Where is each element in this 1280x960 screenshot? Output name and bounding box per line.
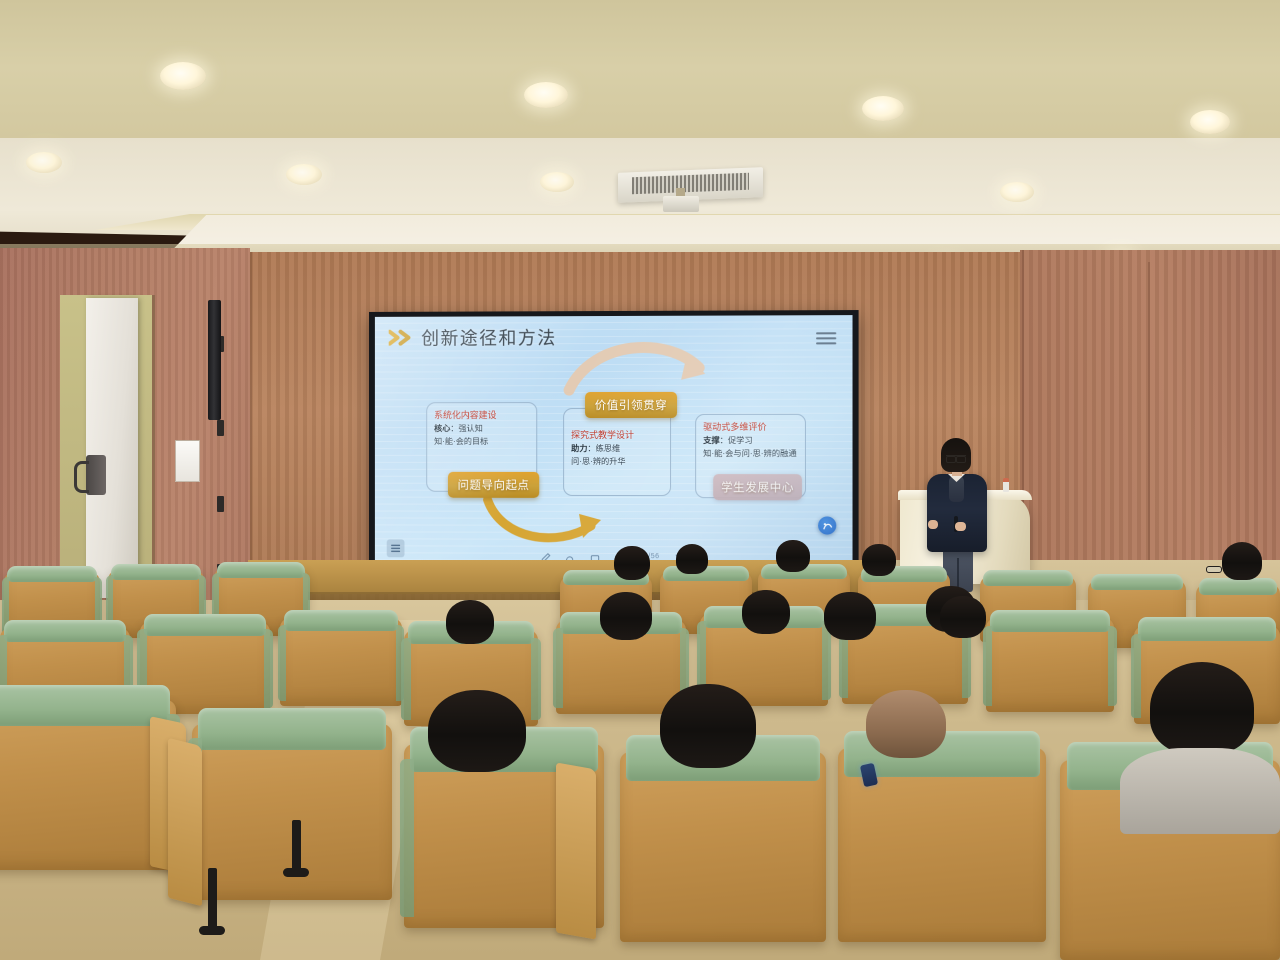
recessed-downlight <box>1000 182 1034 202</box>
seat-side <box>531 638 540 721</box>
recessed-downlight <box>540 172 574 192</box>
recessed-downlight <box>160 62 206 90</box>
seat-headrest <box>4 620 126 642</box>
audience-member <box>1222 542 1262 580</box>
badge-student-development: 学生发展中心 <box>713 474 802 500</box>
card-bullet-sep: ： <box>450 424 458 433</box>
seat-headrest <box>990 610 1110 633</box>
water-bottle <box>1003 478 1009 492</box>
slide-options-icon[interactable] <box>387 539 405 557</box>
wall-control-panel[interactable] <box>175 440 200 482</box>
door-hinge-icon <box>217 496 224 512</box>
glasses-icon <box>946 455 966 461</box>
person-head <box>866 690 946 758</box>
recessed-downlight <box>862 96 904 121</box>
seat-headrest <box>198 708 386 750</box>
glasses-icon <box>1206 566 1222 573</box>
seat-headrest <box>7 566 97 582</box>
door-hinge-icon <box>217 420 224 436</box>
seat-side <box>278 625 287 701</box>
seat-armrest <box>556 762 596 939</box>
card-bullet-sep: ： <box>587 444 595 453</box>
card-bullet: 问·思·辨的升华 <box>571 456 663 469</box>
door-handle[interactable] <box>86 455 106 495</box>
person-head <box>1150 662 1254 754</box>
badge-problem-oriented: 问题导向起点 <box>448 472 539 498</box>
slide-canvas: 创新途径和方法 系统化内容建设 核心：强认知 知·能· <box>375 315 853 569</box>
person-head <box>776 540 810 572</box>
card-bullet-key: 核心 <box>434 424 450 433</box>
wall-seam <box>250 252 252 600</box>
seat-headrest <box>1199 578 1278 595</box>
seat-headrest <box>111 564 201 580</box>
presentation-app-logo-icon <box>818 516 836 534</box>
card-bullet-value: 促学习 <box>728 436 753 445</box>
card-bullet: 知·能·会与问·思·辨的融通 <box>703 448 798 461</box>
card-bullet: 知·能·会的目标 <box>434 436 529 449</box>
audience-member <box>940 596 986 638</box>
seat[interactable] <box>620 752 826 942</box>
double-chevron-icon <box>389 330 415 346</box>
card-inquiry-teaching: 探究式教学设计 助力：练思维 问·思·辨的升华 <box>563 408 671 496</box>
air-conditioner-grille <box>632 173 749 194</box>
audience-member <box>600 592 652 640</box>
wall-seam <box>1148 262 1150 592</box>
person-head <box>446 600 494 644</box>
audience-member <box>742 590 790 634</box>
seat-headrest <box>144 614 266 636</box>
seat-headrest <box>284 610 399 631</box>
person-head <box>742 590 790 634</box>
seat-side <box>264 629 273 708</box>
seat-headrest <box>217 562 305 578</box>
card-bullet-key: 支撑 <box>703 436 719 445</box>
card-bullet-key: 助力 <box>571 444 587 453</box>
recessed-downlight <box>26 152 62 173</box>
presenter-hand <box>928 520 938 529</box>
card-bullet-sep: ： <box>720 436 728 445</box>
hamburger-menu-icon[interactable] <box>816 332 836 344</box>
seat-side <box>401 638 410 721</box>
slide-title: 创新途径和方法 <box>421 324 556 350</box>
person-head <box>824 592 876 640</box>
seat[interactable] <box>280 618 402 706</box>
seat-leg <box>208 868 217 930</box>
badge-value-guidance: 价值引领贯穿 <box>585 392 677 418</box>
card-bullet-value: 强认知 <box>458 424 482 433</box>
arrow-bottom-curve-icon <box>480 492 619 554</box>
seat-side <box>400 759 414 917</box>
audience-member <box>776 540 810 572</box>
seat-headrest <box>1091 574 1183 590</box>
ceiling-projector <box>663 196 699 212</box>
person-head <box>614 546 650 580</box>
seat-leg <box>292 820 301 872</box>
card-bullet-value: 问·思·辨的升华 <box>571 457 626 466</box>
seat-headrest <box>1138 617 1275 641</box>
card-bullet: 支撑：促学习 <box>703 435 798 448</box>
seat-foot <box>283 868 309 877</box>
wall-speaker <box>208 300 221 420</box>
slide-header: 创新途径和方法 <box>389 324 557 350</box>
person-head <box>940 596 986 638</box>
audience-member <box>660 684 756 768</box>
person-head <box>1222 542 1262 580</box>
seat[interactable] <box>986 618 1114 712</box>
card-bullet: 助力：练思维 <box>571 443 663 456</box>
audience-member <box>824 592 876 640</box>
card-headline: 系统化内容建设 <box>434 409 529 423</box>
card-headline: 探究式教学设计 <box>571 429 663 443</box>
recessed-downlight <box>524 82 568 108</box>
person-shoulders <box>1120 748 1280 834</box>
audience-member <box>676 544 708 574</box>
audience-member <box>446 600 494 644</box>
presenter-hand <box>955 522 966 531</box>
person-head <box>862 544 896 576</box>
card-bullet-value: 练思维 <box>596 444 621 453</box>
seat-foot <box>199 926 225 935</box>
seat-side <box>1108 626 1117 707</box>
person-head <box>660 684 756 768</box>
person-head <box>676 544 708 574</box>
audience-member <box>862 544 896 576</box>
recessed-downlight <box>286 164 322 185</box>
card-headline: 驱动式多维评价 <box>703 421 798 435</box>
seat-side <box>1131 634 1141 718</box>
seat-headrest <box>983 570 1073 586</box>
entrance-door[interactable] <box>86 298 138 598</box>
recessed-downlight <box>1190 110 1230 134</box>
seat-armrest <box>168 738 202 906</box>
person-head <box>428 690 526 772</box>
card-bullet-value: 知·能·会的目标 <box>434 437 488 446</box>
audience-member <box>1150 662 1254 754</box>
audience-member <box>866 690 946 758</box>
projection-screen: 创新途径和方法 系统化内容建设 核心：强认知 知·能· <box>369 310 859 574</box>
lecture-hall-scene: 创新途径和方法 系统化内容建设 核心：强认知 知·能· <box>0 0 1280 960</box>
person-head <box>600 592 652 640</box>
seat-headrest <box>0 685 170 726</box>
seat-side <box>553 628 562 709</box>
card-bullet: 核心：强认知 <box>434 423 529 436</box>
audience-member <box>428 690 526 772</box>
audience-member <box>614 546 650 580</box>
card-bullet-value: 知·能·会与问·思·辨的融通 <box>703 449 796 458</box>
